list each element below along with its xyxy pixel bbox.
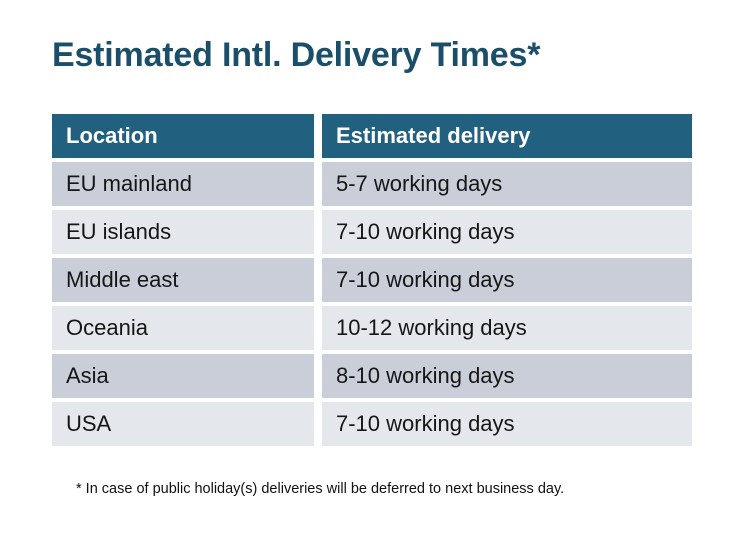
- cell-delivery: 5-7 working days: [322, 162, 692, 206]
- cell-location: EU mainland: [52, 162, 314, 206]
- cell-location: EU islands: [52, 210, 314, 254]
- table-row: EU mainland 5-7 working days: [52, 162, 692, 206]
- table-row: EU islands 7-10 working days: [52, 210, 692, 254]
- column-header-location: Location: [52, 114, 314, 158]
- table-row: Oceania 10-12 working days: [52, 306, 692, 350]
- cell-location: Oceania: [52, 306, 314, 350]
- cell-delivery: 7-10 working days: [322, 258, 692, 302]
- delivery-times-page: Estimated Intl. Delivery Times* Location…: [0, 0, 745, 536]
- table-row: Middle east 7-10 working days: [52, 258, 692, 302]
- cell-location: USA: [52, 402, 314, 446]
- table-row: Asia 8-10 working days: [52, 354, 692, 398]
- footnote-public-holiday: * In case of public holiday(s) deliverie…: [76, 481, 564, 497]
- estimated-delivery-times-table: Location Estimated delivery EU mainland …: [52, 114, 692, 446]
- cell-delivery: 10-12 working days: [322, 306, 692, 350]
- cell-delivery: 7-10 working days: [322, 210, 692, 254]
- cell-location: Middle east: [52, 258, 314, 302]
- table-header-row: Location Estimated delivery: [52, 114, 692, 158]
- page-title: Estimated Intl. Delivery Times*: [52, 36, 540, 75]
- cell-location: Asia: [52, 354, 314, 398]
- cell-delivery: 8-10 working days: [322, 354, 692, 398]
- cell-delivery: 7-10 working days: [322, 402, 692, 446]
- column-header-estimated-delivery: Estimated delivery: [322, 114, 692, 158]
- table-row: USA 7-10 working days: [52, 402, 692, 446]
